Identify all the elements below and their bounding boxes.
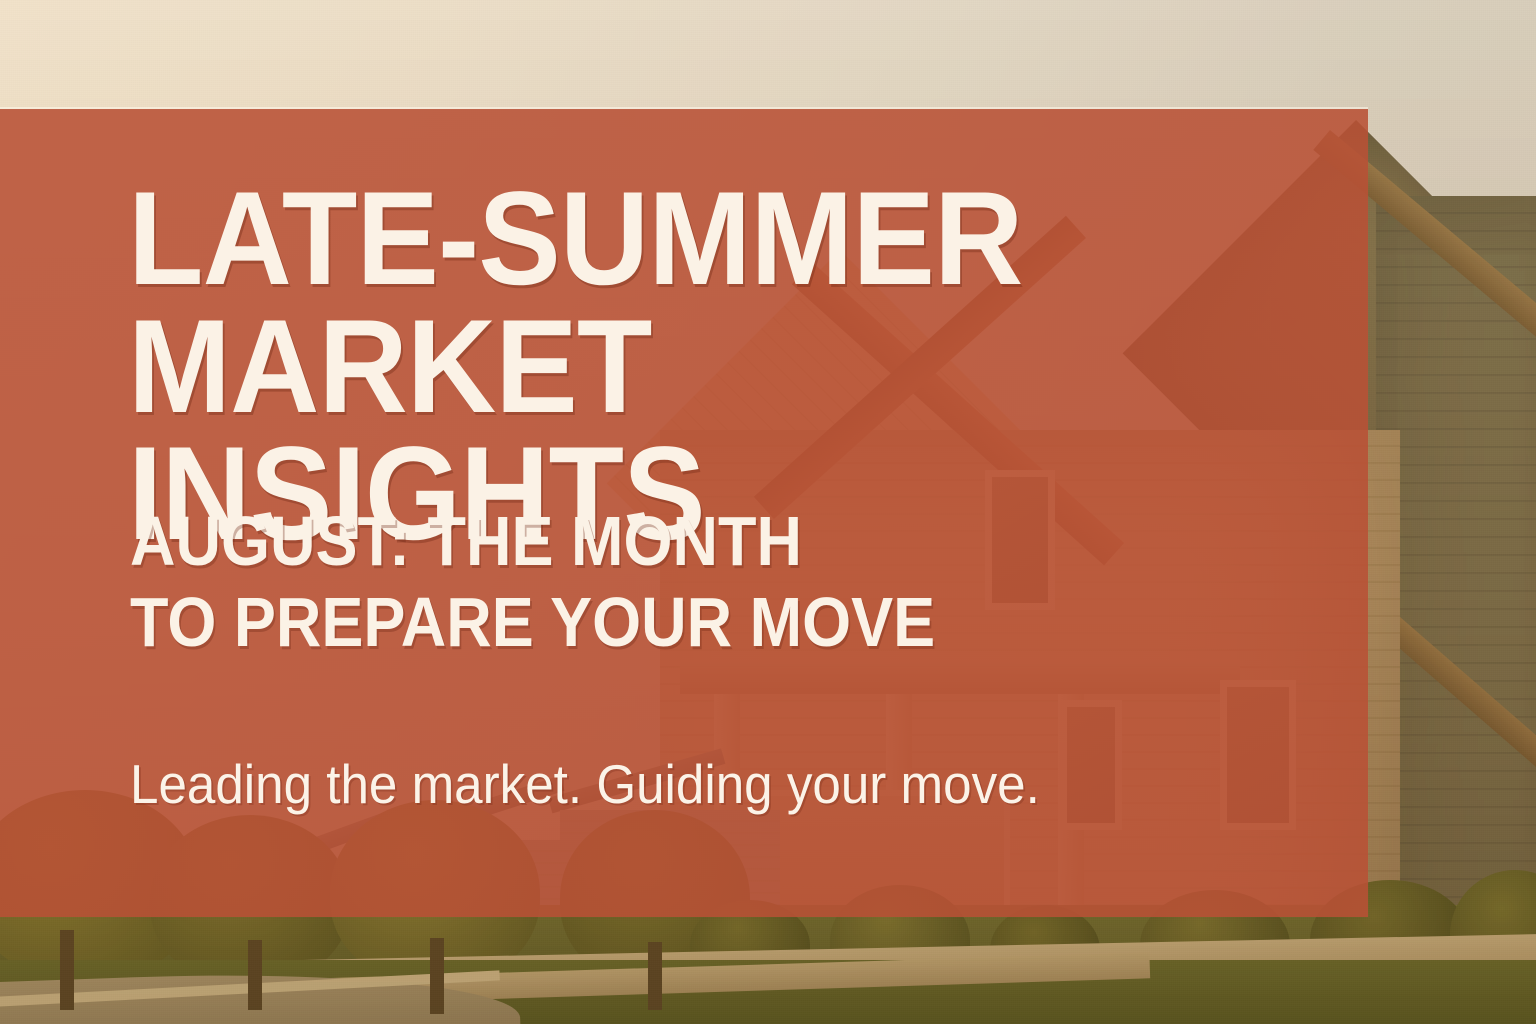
marketing-poster: LATE-SUMMER MARKET INSIGHTS AUGUST: THE … [0, 0, 1536, 1024]
tagline: Leading the market. Guiding your move. [130, 754, 1040, 815]
subtitle: AUGUST: THE MONTH TO PREPARE YOUR MOVE [130, 501, 1165, 663]
text-layer: LATE-SUMMER MARKET INSIGHTS AUGUST: THE … [0, 0, 1536, 1024]
